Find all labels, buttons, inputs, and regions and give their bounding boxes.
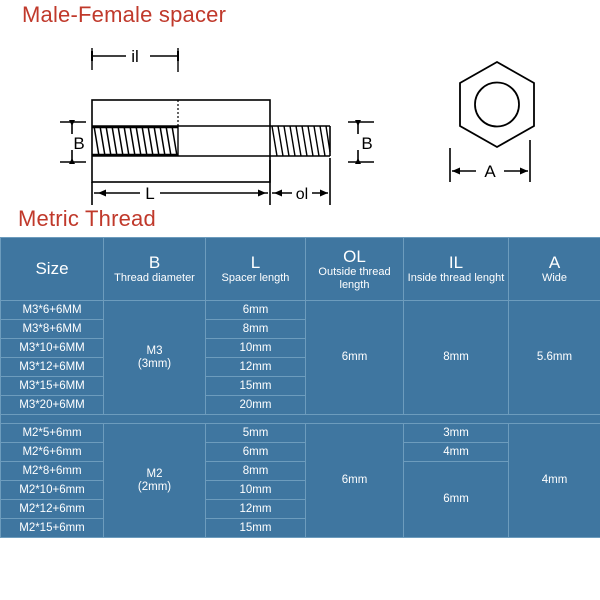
column-header-subtitle: Inside thread lenght bbox=[404, 272, 508, 284]
cell-spacer-length: 15mm bbox=[206, 377, 306, 396]
cell-inside-thread-length: 6mm bbox=[404, 462, 509, 538]
cell-thread-diameter: M2(2mm) bbox=[104, 424, 206, 538]
cell-inside-thread-length: 8mm bbox=[404, 301, 509, 415]
thread-diameter-name: M2 bbox=[147, 468, 163, 480]
page-title-male-female-spacer: Male-Female spacer bbox=[22, 2, 226, 28]
column-header-b: BThread diameter bbox=[104, 238, 206, 301]
b-right-arrow-down bbox=[355, 158, 361, 164]
label-l: L bbox=[145, 184, 154, 203]
metric-thread-spec-table: SizeBThread diameterLSpacer lengthOLOuts… bbox=[0, 237, 600, 538]
cell-inside-thread-length: 4mm bbox=[404, 443, 509, 462]
ol-arrow-left bbox=[274, 190, 282, 197]
cell-wide: 4mm bbox=[509, 424, 600, 538]
thread-diameter-value: (2mm) bbox=[104, 481, 205, 494]
label-a: A bbox=[484, 162, 496, 181]
cell-spacer-length: 10mm bbox=[206, 481, 306, 500]
cell-size: M3*15+6MM bbox=[1, 377, 104, 396]
table-row: M2*5+6mmM2(2mm)5mm6mm3mm4mm bbox=[1, 424, 600, 443]
column-header-subtitle: Outside thread length bbox=[306, 266, 403, 291]
thread-diameter-value: (3mm) bbox=[104, 358, 205, 371]
cell-size: M3*12+6MM bbox=[1, 358, 104, 377]
cell-spacer-length: 5mm bbox=[206, 424, 306, 443]
label-b-left: B bbox=[73, 134, 84, 153]
column-header-ol: OLOutside thread length bbox=[306, 238, 404, 301]
thread-diameter-name: M3 bbox=[147, 345, 163, 357]
cell-spacer-length: 12mm bbox=[206, 358, 306, 377]
cell-spacer-length: 8mm bbox=[206, 320, 306, 339]
b-right-arrow-up bbox=[355, 120, 361, 126]
column-header-a: AWide bbox=[509, 238, 600, 301]
cell-spacer-length: 15mm bbox=[206, 519, 306, 538]
cell-size: M2*5+6mm bbox=[1, 424, 104, 443]
cell-size: M3*10+6MM bbox=[1, 339, 104, 358]
group-separator bbox=[1, 415, 600, 424]
cell-size: M2*6+6mm bbox=[1, 443, 104, 462]
cell-spacer-length: 12mm bbox=[206, 500, 306, 519]
spacer-technical-drawing: il L ol B B A bbox=[0, 30, 600, 205]
cell-size: M2*8+6mm bbox=[1, 462, 104, 481]
cell-size: M3*20+6MM bbox=[1, 396, 104, 415]
label-b-right: B bbox=[361, 134, 372, 153]
column-header-title: Size bbox=[1, 259, 103, 278]
a-arrow-right bbox=[520, 168, 528, 175]
cell-wide: 5.6mm bbox=[509, 301, 600, 415]
column-header-subtitle: Wide bbox=[509, 272, 600, 284]
a-arrow-left bbox=[452, 168, 460, 175]
column-header-subtitle: Thread diameter bbox=[104, 272, 205, 284]
spacer-body-outline bbox=[92, 100, 270, 182]
cell-size: M3*6+6MM bbox=[1, 301, 104, 320]
column-header-l: LSpacer length bbox=[206, 238, 306, 301]
section-title-metric-thread: Metric Thread bbox=[18, 206, 156, 232]
cell-spacer-length: 6mm bbox=[206, 301, 306, 320]
column-header-title: L bbox=[206, 253, 305, 272]
column-header-title: A bbox=[509, 253, 600, 272]
cell-spacer-length: 8mm bbox=[206, 462, 306, 481]
external-thread-hatching bbox=[272, 126, 330, 156]
cell-spacer-length: 10mm bbox=[206, 339, 306, 358]
cell-size: M2*10+6mm bbox=[1, 481, 104, 500]
column-header-il: ILInside thread lenght bbox=[404, 238, 509, 301]
cell-outside-thread-length: 6mm bbox=[306, 424, 404, 538]
b-left-arrow-down bbox=[69, 158, 75, 164]
group-separator-cell bbox=[1, 415, 600, 424]
table-header-row: SizeBThread diameterLSpacer lengthOLOuts… bbox=[1, 238, 600, 301]
column-header-subtitle: Spacer length bbox=[206, 272, 305, 284]
cell-size: M2*15+6mm bbox=[1, 519, 104, 538]
cell-size: M3*8+6MM bbox=[1, 320, 104, 339]
column-header-title: IL bbox=[404, 253, 508, 272]
cell-spacer-length: 20mm bbox=[206, 396, 306, 415]
b-left-arrow-up bbox=[69, 120, 75, 126]
cell-inside-thread-length: 3mm bbox=[404, 424, 509, 443]
l-arrow-right bbox=[258, 190, 266, 197]
l-arrow-left bbox=[98, 190, 106, 197]
column-header-size: Size bbox=[1, 238, 104, 301]
table-body: M3*6+6MMM3(3mm)6mm6mm8mm5.6mmM3*8+6MM8mm… bbox=[1, 301, 600, 538]
column-header-title: OL bbox=[306, 247, 403, 266]
cell-size: M2*12+6mm bbox=[1, 500, 104, 519]
cell-outside-thread-length: 6mm bbox=[306, 301, 404, 415]
ol-arrow-right bbox=[320, 190, 328, 197]
cell-thread-diameter: M3(3mm) bbox=[104, 301, 206, 415]
label-il: il bbox=[131, 47, 139, 66]
hex-nut-bore-circle bbox=[475, 83, 519, 127]
column-header-title: B bbox=[104, 253, 205, 272]
table-row: M3*6+6MMM3(3mm)6mm6mm8mm5.6mm bbox=[1, 301, 600, 320]
cell-spacer-length: 6mm bbox=[206, 443, 306, 462]
label-ol: ol bbox=[296, 186, 308, 203]
